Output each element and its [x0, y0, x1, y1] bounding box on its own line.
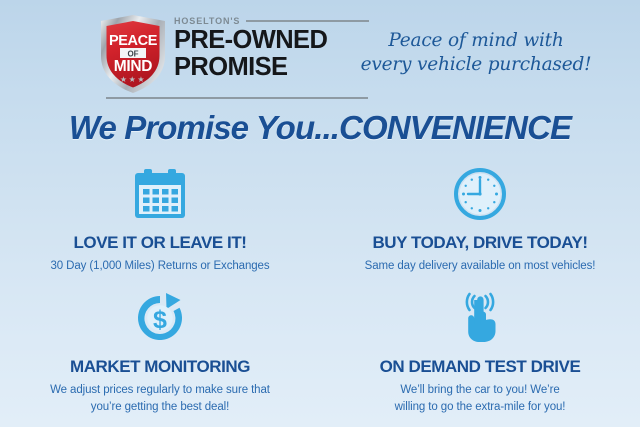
- feature-title: BUY TODAY, DRIVE TODAY!: [320, 233, 640, 253]
- feature-market-monitoring: $ MARKET MONITORING We adjust prices reg…: [0, 285, 320, 415]
- tagline-line1: Peace of mind with: [360, 29, 592, 53]
- feature-buy-today-drive-today: BUY TODAY, DRIVE TODAY! Same day deliver…: [320, 160, 640, 274]
- features-row-1: LOVE IT OR LEAVE IT! 30 Day (1,000 Miles…: [0, 160, 640, 274]
- lockup-text: HOSELTON'S PRE-OWNED PROMISE: [174, 14, 369, 80]
- features-grid: LOVE IT OR LEAVE IT! 30 Day (1,000 Miles…: [0, 160, 640, 415]
- eyebrow-rule: [246, 20, 369, 22]
- tagline: Peace of mind with every vehicle purchas…: [360, 29, 592, 78]
- feature-on-demand-test-drive: ON DEMAND TEST DRIVE We’ll bring the car…: [320, 285, 640, 415]
- promise-title-line2: PROMISE: [174, 54, 369, 80]
- shield-line2: MIND: [114, 58, 153, 75]
- promise-title-line1: PRE-OWNED: [174, 27, 369, 53]
- promo-poster: PEACE OF MIND ★★★ HOSELTON'S PRE-OWNED P…: [0, 0, 640, 427]
- brand-eyebrow: HOSELTON'S: [174, 16, 240, 26]
- peace-of-mind-shield-logo: PEACE OF MIND ★★★: [96, 12, 170, 96]
- feature-description-line2: willing to go the extra-mile for you!: [320, 399, 640, 415]
- svg-text:$: $: [153, 306, 167, 334]
- features-row-2: $ MARKET MONITORING We adjust prices reg…: [0, 285, 640, 415]
- feature-description-line2: you’re getting the best deal!: [0, 399, 320, 415]
- lockup-bottom-rule: [106, 97, 368, 99]
- dollar-refresh-icon: $: [0, 288, 320, 348]
- brand-lockup: PEACE OF MIND ★★★ HOSELTON'S PRE-OWNED P…: [96, 8, 366, 100]
- feature-description-line1: We’ll bring the car to you! We’re: [320, 382, 640, 398]
- shield-icon: PEACE OF MIND ★★★: [96, 12, 170, 96]
- clock-icon: [320, 164, 640, 224]
- feature-love-it-or-leave-it: LOVE IT OR LEAVE IT! 30 Day (1,000 Miles…: [0, 160, 320, 274]
- feature-title: ON DEMAND TEST DRIVE: [320, 357, 640, 377]
- feature-description: 30 Day (1,000 Miles) Returns or Exchange…: [0, 258, 320, 274]
- shield-line1: PEACE: [109, 33, 158, 49]
- feature-title: MARKET MONITORING: [0, 357, 320, 377]
- feature-title: LOVE IT OR LEAVE IT!: [0, 233, 320, 253]
- tagline-line2: every vehicle purchased!: [360, 53, 592, 77]
- feature-description: We’ll bring the car to you! We’re willin…: [320, 382, 640, 415]
- feature-description-line1: We adjust prices regularly to make sure …: [0, 382, 320, 398]
- tap-hand-icon: [320, 288, 640, 348]
- feature-description: We adjust prices regularly to make sure …: [0, 382, 320, 415]
- shield-stars: ★★★: [120, 75, 146, 84]
- calendar-icon: [0, 164, 320, 224]
- feature-description: Same day delivery available on most vehi…: [320, 258, 640, 274]
- page-headline: We Promise You...CONVENIENCE: [0, 109, 640, 147]
